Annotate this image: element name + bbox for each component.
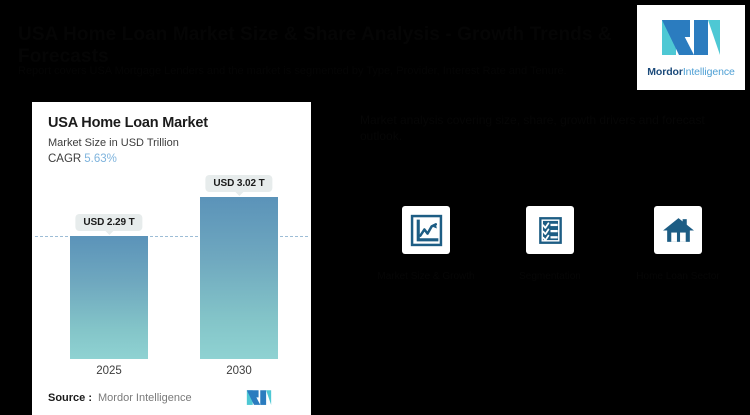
brand-name-light: Intelligence [683,66,735,78]
icon-tile-segmentation[interactable] [526,206,574,254]
icon-caption-market-size: Market Size & Growth [366,270,486,283]
x-axis-tick-2025: 2025 [69,365,149,377]
icon-row: Market Size & Growth Segmentation [360,198,740,272]
plot-area: USD 2.29 T USD 3.02 T 2025 2030 [32,177,311,377]
house-icon [662,214,695,247]
line-chart-up-icon [410,214,443,247]
page-title: USA Home Loan Market Size & Share Analys… [18,24,618,68]
source-name: Mordor Intelligence [98,392,192,404]
icon-caption-segmentation: Segmentation [490,270,610,283]
source-row: Source : Mordor Intelligence [48,392,192,404]
bar-2025 [70,236,148,359]
brand-wordmark: MordorIntelligence [647,66,734,78]
x-axis-tick-2030: 2030 [199,365,279,377]
bar-value-label-2030: USD 3.02 T [205,175,272,192]
brand-name-bold: Mordor [647,66,683,78]
bar-2030 [200,197,278,359]
chart-card: USA Home Loan Market Market Size in USD … [32,102,311,415]
icon-caption-home-loan: Home Loan Sector [618,270,738,283]
chart-subtitle: Market Size in USD Trillion [48,137,179,149]
mordor-m-mark-icon [660,17,722,57]
cagr-label: CAGR [48,153,81,165]
cagr-row: CAGR5.63% [48,153,117,165]
checklist-clipboard-icon [534,214,567,247]
source-label: Source : [48,392,92,404]
chart-title: USA Home Loan Market [48,115,208,131]
page-subtitle: Report covers USA Mortgage Lenders and t… [18,64,618,78]
source-mordor-m-mark-icon [246,389,272,406]
icon-tile-home-loan[interactable] [654,206,702,254]
bar-value-label-2025: USD 2.29 T [75,214,142,231]
icon-tile-market-size[interactable] [402,206,450,254]
right-lead-text: Market analysis covering size, share, gr… [360,112,740,144]
brand-logo: MordorIntelligence [637,5,745,90]
cagr-value: 5.63% [84,153,117,165]
